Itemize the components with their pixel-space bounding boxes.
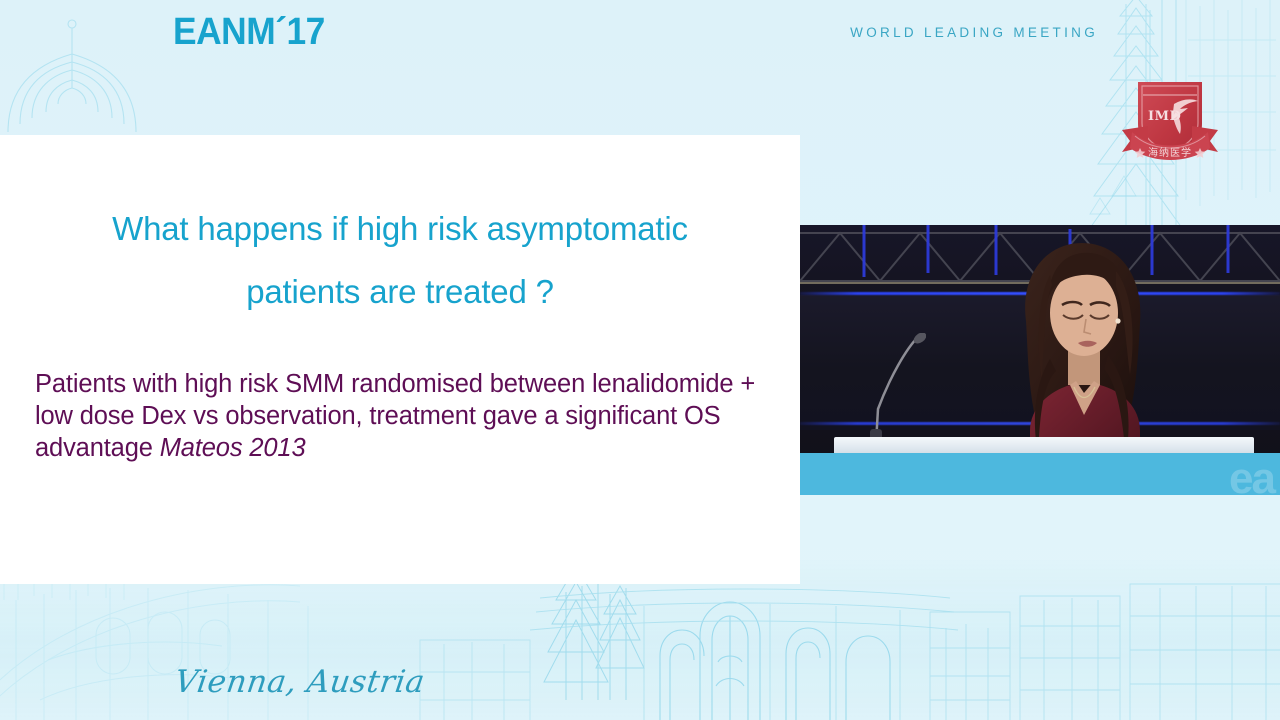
svg-text:IMD: IMD xyxy=(1148,109,1181,124)
slide-title-line-1: What happens if high risk asymptomatic xyxy=(40,197,760,260)
event-tagline: WORLD LEADING MEETING xyxy=(850,25,1098,40)
imd-shield-logo: IMD 海纳医学 xyxy=(1118,68,1222,168)
eanm-brand-logo: EANM´17 xyxy=(173,11,325,54)
slide-title-line-2: patients are treated ? xyxy=(40,260,760,323)
slide-panel: What happens if high risk asymptomatic p… xyxy=(0,135,800,584)
slide-body-citation: Mateos 2013 xyxy=(160,434,306,462)
slide-body-text: Patients with high risk SMM randomised b… xyxy=(35,370,755,462)
presentation-screen: EANM´17 WORLD LEADING MEETING IMD 海纳医学 xyxy=(0,0,1280,720)
svg-text:海纳医学: 海纳医学 xyxy=(1148,146,1192,159)
slide-title: What happens if high risk asymptomatic p… xyxy=(40,197,760,323)
lectern-panel xyxy=(800,453,1280,495)
microphone xyxy=(854,333,926,445)
speaker-video-feed[interactable]: ea xyxy=(800,225,1280,495)
event-location: Vienna, Austria xyxy=(172,664,427,700)
slide-body: Patients with high risk SMM randomised b… xyxy=(35,368,777,464)
lectern-logo: ea xyxy=(1229,457,1274,495)
